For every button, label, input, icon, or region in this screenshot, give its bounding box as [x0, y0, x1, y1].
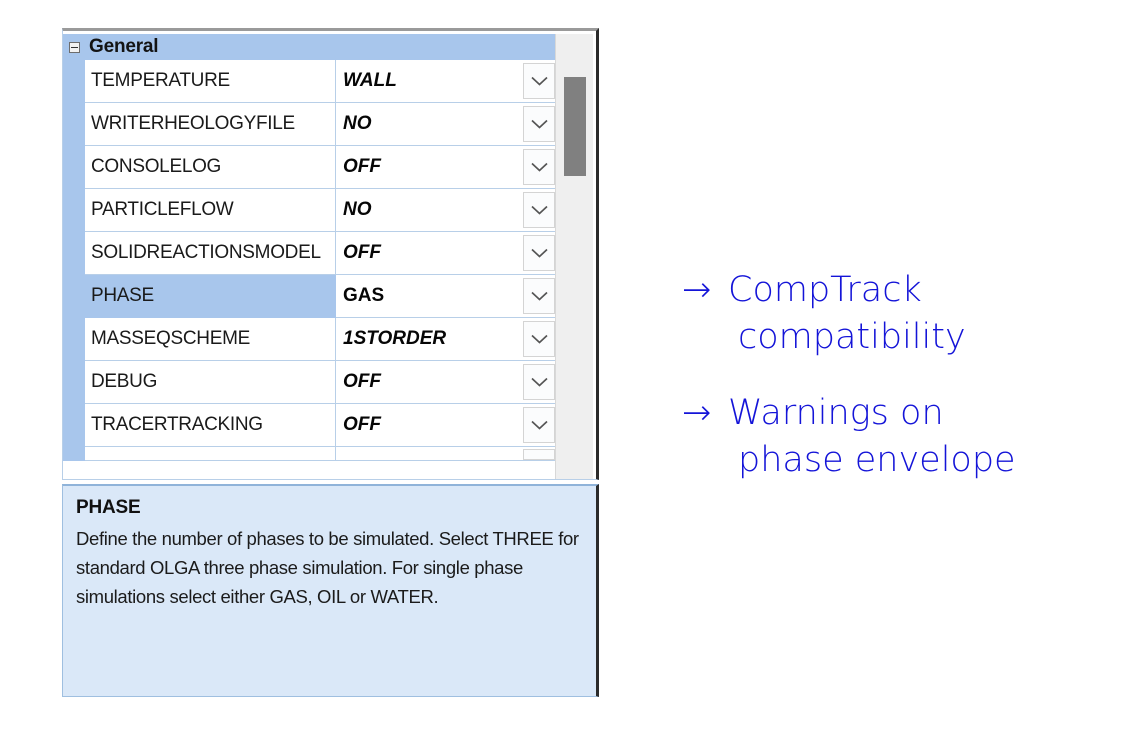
- dropdown-button[interactable]: [523, 235, 555, 271]
- chevron-down-icon: [531, 420, 548, 430]
- property-value-cell[interactable]: OFF: [336, 232, 519, 275]
- dropdown-button[interactable]: [523, 63, 555, 99]
- property-dropdown-cell: [519, 103, 559, 146]
- property-dropdown-cell: [519, 361, 559, 404]
- property-description-panel: PHASE Define the number of phases to be …: [62, 484, 599, 697]
- collapse-minus-icon[interactable]: [69, 42, 80, 53]
- dropdown-button[interactable]: [523, 278, 555, 314]
- row-indent-gutter: [63, 361, 85, 404]
- property-value-cell[interactable]: [336, 447, 519, 461]
- vertical-scrollbar[interactable]: [555, 34, 593, 480]
- property-name-cell: [85, 447, 336, 461]
- property-value-cell[interactable]: NO: [336, 103, 519, 146]
- dropdown-button[interactable]: [523, 407, 555, 443]
- chevron-down-icon: [531, 205, 548, 215]
- chevron-down-icon: [531, 291, 548, 301]
- table-row-partial[interactable]: [63, 447, 559, 461]
- table-row[interactable]: SOLIDREACTIONSMODEL OFF: [63, 232, 559, 275]
- annotation-warnings-line1: Warnings on: [728, 393, 944, 433]
- arrow-right-icon: →: [682, 390, 728, 437]
- row-indent-gutter: [63, 189, 85, 232]
- property-name-cell: MASSEQSCHEME: [85, 318, 336, 361]
- chevron-down-icon: [531, 76, 548, 86]
- arrow-right-icon: →: [682, 267, 728, 314]
- dropdown-button[interactable]: [523, 149, 555, 185]
- dropdown-button[interactable]: [523, 321, 555, 357]
- property-name-cell: PARTICLEFLOW: [85, 189, 336, 232]
- chevron-down-icon: [531, 162, 548, 172]
- property-dropdown-cell: [519, 404, 559, 447]
- chevron-down-icon: [531, 248, 548, 258]
- property-dropdown-cell: [519, 232, 559, 275]
- scrollbar-thumb[interactable]: [564, 77, 586, 176]
- property-name-cell: WRITERHEOLOGYFILE: [85, 103, 336, 146]
- row-indent-gutter: [63, 232, 85, 275]
- row-indent-gutter: [63, 318, 85, 361]
- property-value-cell[interactable]: WALL: [336, 60, 519, 103]
- row-indent-gutter: [63, 103, 85, 146]
- property-grid-panel: General TEMPERATURE WALL WRITERHEOLOGYFI…: [62, 28, 599, 698]
- table-row[interactable]: MASSEQSCHEME 1STORDER: [63, 318, 559, 361]
- property-value-cell[interactable]: OFF: [336, 404, 519, 447]
- dropdown-button[interactable]: [523, 449, 555, 460]
- property-name-cell: DEBUG: [85, 361, 336, 404]
- row-indent-gutter: [63, 404, 85, 447]
- property-name-cell: PHASE: [85, 275, 336, 318]
- chevron-down-icon: [531, 377, 548, 387]
- row-indent-gutter: [63, 275, 85, 318]
- property-value-cell[interactable]: OFF: [336, 146, 519, 189]
- property-dropdown-cell: [519, 275, 559, 318]
- property-name-cell: TEMPERATURE: [85, 60, 336, 103]
- property-name-cell: SOLIDREACTIONSMODEL: [85, 232, 336, 275]
- property-name-cell: TRACERTRACKING: [85, 404, 336, 447]
- table-row[interactable]: DEBUG OFF: [63, 361, 559, 404]
- row-indent-gutter: [63, 60, 85, 103]
- property-name-cell: CONSOLELOG: [85, 146, 336, 189]
- dropdown-button[interactable]: [523, 364, 555, 400]
- annotation-comptrack-line1: CompTrack: [728, 270, 922, 310]
- table-row[interactable]: CONSOLELOG OFF: [63, 146, 559, 189]
- property-value-cell[interactable]: 1STORDER: [336, 318, 519, 361]
- property-grid-rows-area: General TEMPERATURE WALL WRITERHEOLOGYFI…: [63, 34, 559, 480]
- property-dropdown-cell: [519, 447, 559, 461]
- property-value-cell[interactable]: OFF: [336, 361, 519, 404]
- dropdown-button[interactable]: [523, 106, 555, 142]
- property-dropdown-cell: [519, 146, 559, 189]
- row-indent-gutter: [63, 447, 85, 461]
- property-dropdown-cell: [519, 318, 559, 361]
- annotation-warnings-line2: phase envelope: [682, 437, 1016, 484]
- annotation-comptrack: →CompTrack compatibility: [682, 267, 966, 361]
- row-indent-gutter: [63, 146, 85, 189]
- table-row[interactable]: TRACERTRACKING OFF: [63, 404, 559, 447]
- table-row[interactable]: PARTICLEFLOW NO: [63, 189, 559, 232]
- description-title: PHASE: [76, 497, 588, 519]
- table-row[interactable]: TEMPERATURE WALL: [63, 60, 559, 103]
- annotation-warnings: →Warnings on phase envelope: [682, 390, 1016, 484]
- property-dropdown-cell: [519, 189, 559, 232]
- category-header-label: General: [89, 36, 158, 58]
- property-value-cell[interactable]: GAS: [336, 275, 519, 318]
- annotation-comptrack-line2: compatibility: [682, 314, 966, 361]
- description-text: Define the number of phases to be simula…: [76, 524, 588, 611]
- chevron-down-icon: [531, 334, 548, 344]
- property-grid-frame: General TEMPERATURE WALL WRITERHEOLOGYFI…: [62, 28, 599, 480]
- dropdown-button[interactable]: [523, 192, 555, 228]
- table-row-selected[interactable]: PHASE GAS: [63, 275, 559, 318]
- property-dropdown-cell: [519, 60, 559, 103]
- table-row[interactable]: WRITERHEOLOGYFILE NO: [63, 103, 559, 146]
- category-header-general[interactable]: General: [63, 34, 559, 60]
- property-value-cell[interactable]: NO: [336, 189, 519, 232]
- chevron-down-icon: [531, 119, 548, 129]
